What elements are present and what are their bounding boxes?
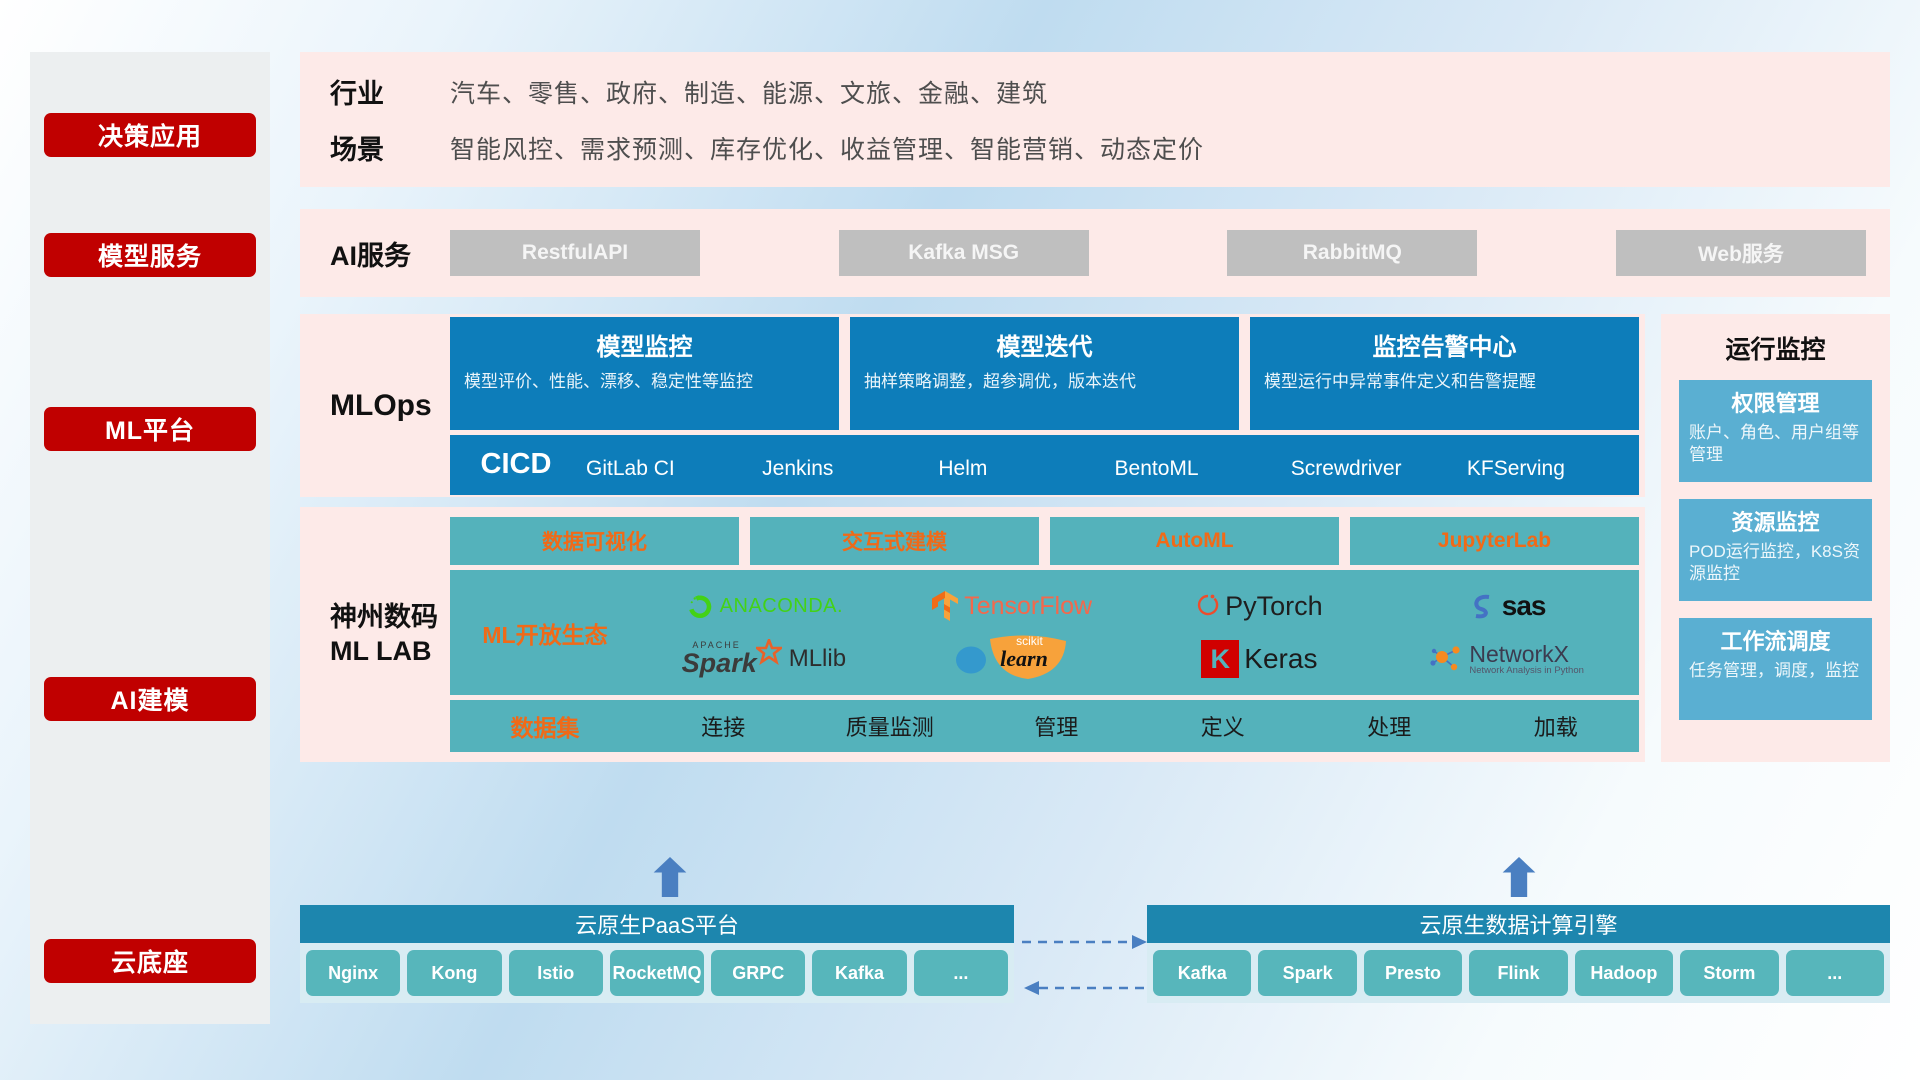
layer-label-model-service[interactable]: 模型服务 — [44, 233, 256, 277]
tab-data-visualization[interactable]: 数据可视化 — [450, 517, 739, 565]
networkx-wordmark: NetworkX — [1469, 642, 1584, 666]
cloud-paas-chips: Nginx Kong Istio RocketMQ GRPC Kafka ... — [300, 943, 1014, 1003]
ai-service-chip-restfulapi[interactable]: RestfulAPI — [450, 230, 700, 276]
cloud-paas-title: 云原生PaaS平台 — [300, 905, 1014, 943]
mlops-content: 模型监控 模型评价、性能、漂移、稳定性等监控 模型迭代 抽样策略调整，超参调优，… — [450, 317, 1645, 495]
cloud-chip-more[interactable]: ... — [914, 950, 1008, 996]
card-desc: 任务管理，调度，监控 — [1689, 660, 1862, 682]
mlops-cards: 模型监控 模型评价、性能、漂移、稳定性等监控 模型迭代 抽样策略调整，超参调优，… — [450, 317, 1639, 430]
sas-wordmark: sas — [1502, 590, 1546, 622]
card-title: 资源监控 — [1689, 505, 1862, 537]
up-arrow-data-engine-icon — [1499, 857, 1539, 897]
dataset-label: 数据集 — [450, 709, 640, 743]
industry-label: 行业 — [330, 72, 450, 111]
mlops-card-alert-center[interactable]: 监控告警中心 模型运行中异常事件定义和告警提醒 — [1250, 317, 1639, 430]
tab-automl[interactable]: AutoML — [1050, 517, 1339, 565]
dataset-item-connect[interactable]: 连接 — [640, 710, 807, 742]
ml-lab-tabs: 数据可视化 交互式建模 AutoML JupyterLab — [450, 517, 1639, 565]
layer-label-decision[interactable]: 决策应用 — [44, 113, 256, 157]
engine-chip-kafka[interactable]: Kafka — [1153, 950, 1251, 996]
card-desc: 模型运行中异常事件定义和告警提醒 — [1264, 370, 1625, 394]
engine-chip-presto[interactable]: Presto — [1364, 950, 1462, 996]
engine-chip-flink[interactable]: Flink — [1469, 950, 1567, 996]
cloud-data-engine-chips: Kafka Spark Presto Flink Hadoop Storm ..… — [1147, 943, 1890, 1003]
keras-mark-letter: K — [1211, 644, 1231, 675]
engine-chip-storm[interactable]: Storm — [1680, 950, 1778, 996]
keras-wordmark: Keras — [1244, 643, 1317, 675]
engine-chip-hadoop[interactable]: Hadoop — [1575, 950, 1673, 996]
card-title: 监控告警中心 — [1264, 327, 1625, 362]
scikit-blue-blob-icon — [953, 641, 989, 677]
tensorflow-wordmark: TensorFlow — [964, 592, 1092, 621]
cicd-item-jenkins[interactable]: Jenkins — [758, 458, 934, 480]
ai-service-title: AI服务 — [330, 234, 450, 273]
networkx-icon — [1430, 643, 1464, 675]
mlops-card-model-iteration[interactable]: 模型迭代 抽样策略调整，超参调优，版本迭代 — [850, 317, 1239, 430]
card-desc: 抽样策略调整，超参调优，版本迭代 — [864, 370, 1225, 394]
ml-lab-band: 神州数码 ML LAB 数据可视化 交互式建模 AutoML JupyterLa… — [300, 507, 1645, 762]
tab-jupyterlab[interactable]: JupyterLab — [1350, 517, 1639, 565]
ml-lab-title: 神州数码 ML LAB — [330, 601, 450, 669]
ai-service-chip-kafka-msg[interactable]: Kafka MSG — [839, 230, 1089, 276]
card-desc: POD运行监控，K8S资源监控 — [1689, 541, 1862, 586]
mlops-title: MLOps — [330, 389, 450, 423]
card-title: 模型监控 — [464, 327, 825, 362]
dataset-item-manage[interactable]: 管理 — [973, 710, 1140, 742]
dataset-bar: 数据集 连接 质量监测 管理 定义 处理 加载 — [450, 700, 1639, 752]
dataset-items: 连接 质量监测 管理 定义 处理 加载 — [640, 710, 1639, 742]
cloud-bidirectional-link — [1014, 930, 1154, 1010]
mlops-card-model-monitor[interactable]: 模型监控 模型评价、性能、漂移、稳定性等监控 — [450, 317, 839, 430]
ai-service-items: RestfulAPI Kafka MSG RabbitMQ Web服务 — [450, 230, 1890, 276]
tensorflow-logo: TensorFlow — [931, 590, 1092, 622]
industry-values: 汽车、零售、政府、制造、能源、文旅、金融、建筑 — [450, 74, 1048, 110]
card-title: 模型迭代 — [864, 327, 1225, 362]
cicd-item-kfserving[interactable]: KFServing — [1463, 458, 1639, 480]
networkx-logo: NetworkX Network Analysis in Python — [1430, 642, 1584, 676]
ai-service-chip-web[interactable]: Web服务 — [1616, 230, 1866, 276]
card-title: 工作流调度 — [1689, 624, 1862, 656]
layer-rail: 决策应用 模型服务 ML平台 AI建模 云底座 — [30, 52, 270, 1024]
mlops-band: MLOps 模型监控 模型评价、性能、漂移、稳定性等监控 模型迭代 抽样策略调整… — [300, 314, 1645, 497]
layer-label-ml-platform[interactable]: ML平台 — [44, 407, 256, 451]
ml-lab-title-line2: ML LAB — [330, 635, 450, 669]
pytorch-logo: PyTorch — [1196, 591, 1323, 622]
engine-chip-more[interactable]: ... — [1786, 950, 1884, 996]
cloud-chip-istio[interactable]: Istio — [509, 950, 603, 996]
cloud-chip-kafka[interactable]: Kafka — [812, 950, 906, 996]
ml-ecosystem-logos: ANACONDA. TensorFlow — [640, 580, 1639, 686]
keras-mark-icon: K — [1201, 640, 1239, 678]
cloud-chip-nginx[interactable]: Nginx — [306, 950, 400, 996]
card-desc: 模型评价、性能、漂移、稳定性等监控 — [464, 370, 825, 394]
cicd-item-helm[interactable]: Helm — [934, 458, 1110, 480]
dataset-item-load[interactable]: 加载 — [1473, 710, 1640, 742]
monitor-card-permission[interactable]: 权限管理 账户、角色、用户组等管理 — [1679, 380, 1872, 482]
cicd-item-gitlab-ci[interactable]: GitLab CI — [582, 458, 758, 480]
dataset-item-define[interactable]: 定义 — [1140, 710, 1307, 742]
scikit-learn-logo: scikit learn — [953, 633, 1070, 686]
pytorch-icon — [1196, 591, 1220, 621]
tensorflow-icon — [931, 590, 959, 622]
anaconda-wordmark: ANACONDA. — [720, 595, 843, 618]
layer-label-ai-modeling[interactable]: AI建模 — [44, 677, 256, 721]
cloud-chip-grpc[interactable]: GRPC — [711, 950, 805, 996]
engine-chip-spark[interactable]: Spark — [1258, 950, 1356, 996]
tab-interactive-modeling[interactable]: 交互式建模 — [750, 517, 1039, 565]
anaconda-logo: ANACONDA. — [685, 591, 843, 621]
ml-lab-content: 数据可视化 交互式建模 AutoML JupyterLab ML开放生态 A — [450, 517, 1645, 752]
scenario-label: 场景 — [330, 128, 450, 167]
learn-text: learn — [1000, 646, 1048, 672]
spark-star-icon — [756, 639, 782, 665]
cicd-item-screwdriver[interactable]: Screwdriver — [1287, 458, 1463, 480]
spark-wordmark: Spark — [682, 650, 757, 677]
application-band: 行业 汽车、零售、政府、制造、能源、文旅、金融、建筑 场景 智能风控、需求预测、… — [300, 52, 1890, 187]
ai-service-chip-rabbitmq[interactable]: RabbitMQ — [1227, 230, 1477, 276]
cicd-item-bentoml[interactable]: BentoML — [1111, 458, 1287, 480]
networkx-tagline: Network Analysis in Python — [1469, 666, 1584, 676]
dataset-item-process[interactable]: 处理 — [1306, 710, 1473, 742]
cloud-chip-kong[interactable]: Kong — [407, 950, 501, 996]
spark-mllib-logo: APACHE Spark MLlib — [682, 641, 846, 677]
cicd-label: CICD — [450, 448, 582, 481]
scenario-values: 智能风控、需求预测、库存优化、收益管理、智能营销、动态定价 — [450, 130, 1204, 166]
monitor-card-workflow[interactable]: 工作流调度 任务管理，调度，监控 — [1679, 618, 1872, 720]
sas-logo: sas — [1469, 590, 1546, 622]
ai-service-band: AI服务 RestfulAPI Kafka MSG RabbitMQ Web服务 — [300, 209, 1890, 297]
dataset-item-quality[interactable]: 质量监测 — [807, 710, 974, 742]
monitor-card-resource[interactable]: 资源监控 POD运行监控，K8S资源监控 — [1679, 499, 1872, 601]
layer-label-cloud-base[interactable]: 云底座 — [44, 939, 256, 983]
cloud-data-engine-group: 云原生数据计算引擎 Kafka Spark Presto Flink Hadoo… — [1147, 905, 1890, 1003]
ml-ecosystem-label: ML开放生态 — [450, 616, 640, 650]
anaconda-icon — [685, 591, 715, 621]
pytorch-wordmark: PyTorch — [1225, 591, 1323, 622]
ml-lab-title-line1: 神州数码 — [330, 601, 450, 635]
mllib-wordmark: MLlib — [789, 645, 846, 673]
industry-row: 行业 汽车、零售、政府、制造、能源、文旅、金融、建筑 — [330, 64, 1890, 120]
keras-logo: K Keras — [1201, 640, 1317, 678]
cicd-bar: CICD GitLab CI Jenkins Helm BentoML Scre… — [450, 435, 1639, 495]
runtime-monitor-title: 运行监控 — [1679, 330, 1872, 366]
runtime-monitor-panel: 运行监控 权限管理 账户、角色、用户组等管理 资源监控 POD运行监控，K8S资… — [1661, 314, 1890, 762]
cicd-items: GitLab CI Jenkins Helm BentoML Screwdriv… — [582, 448, 1639, 480]
scenario-row: 场景 智能风控、需求预测、库存优化、收益管理、智能营销、动态定价 — [330, 120, 1890, 176]
up-arrow-paas-icon — [650, 857, 690, 897]
card-title: 权限管理 — [1689, 386, 1862, 418]
card-desc: 账户、角色、用户组等管理 — [1689, 422, 1862, 467]
cloud-data-engine-title: 云原生数据计算引擎 — [1147, 905, 1890, 943]
sas-icon — [1469, 591, 1497, 621]
ml-ecosystem-box: ML开放生态 ANACONDA. — [450, 570, 1639, 695]
cloud-chip-rocketmq[interactable]: RocketMQ — [610, 950, 704, 996]
cloud-paas-group: 云原生PaaS平台 Nginx Kong Istio RocketMQ GRPC… — [300, 905, 1014, 1003]
